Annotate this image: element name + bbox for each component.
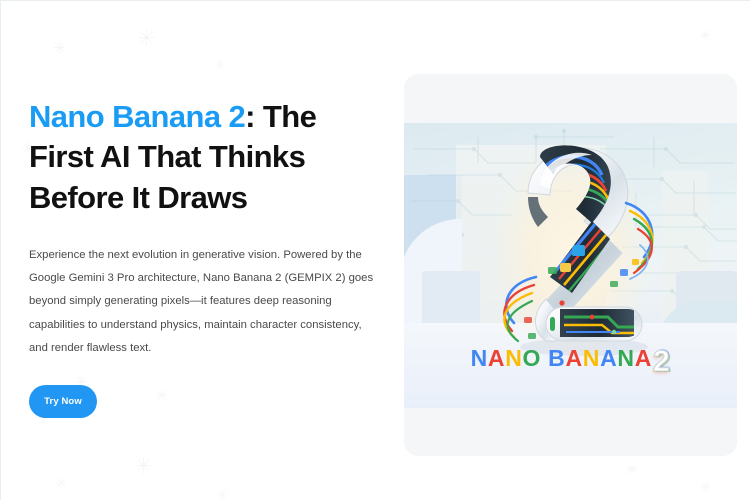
hero-illustration: NANOBANANA2 [404,123,737,408]
sparkle-icon [135,457,152,474]
page-title: Nano Banana 2: The First AI That Thinks … [29,97,381,218]
wordmark-letter: A [565,345,582,371]
sparkle-icon [699,29,711,41]
wordmark-letter: O [523,345,542,371]
headline-accent: Nano Banana 2 [29,99,245,134]
wordmark-numeral-two: 2 [653,345,670,378]
sparkle-icon [53,41,66,54]
hero-text-column: Nano Banana 2: The First AI That Thinks … [29,97,381,418]
media-card[interactable]: NANOBANANA2 [404,74,737,456]
wordmark-letter: A [600,345,617,371]
numeral-two-sculpture-icon [488,141,664,363]
try-now-button[interactable]: Try Now [29,385,97,418]
wordmark-letter: N [471,345,488,371]
sparkle-icon [626,463,638,475]
sparkle-icon [217,489,228,500]
wordmark-letter: N [583,345,600,371]
wordmark-letter: A [488,345,505,371]
wordmark-letter: A [635,345,652,371]
wordmark-letter: N [617,345,634,371]
wordmark-letter: B [548,345,565,371]
sparkle-icon [138,29,155,46]
sparkle-icon [55,477,67,489]
hero-page: Nano Banana 2: The First AI That Thinks … [0,0,750,500]
sparkle-icon [215,59,226,70]
nano-banana-wordmark: NANOBANANA2 [404,345,737,379]
sparkle-icon [700,481,712,493]
hero-description: Experience the next evolution in generat… [29,244,377,360]
wordmark-letter: N [505,345,522,371]
